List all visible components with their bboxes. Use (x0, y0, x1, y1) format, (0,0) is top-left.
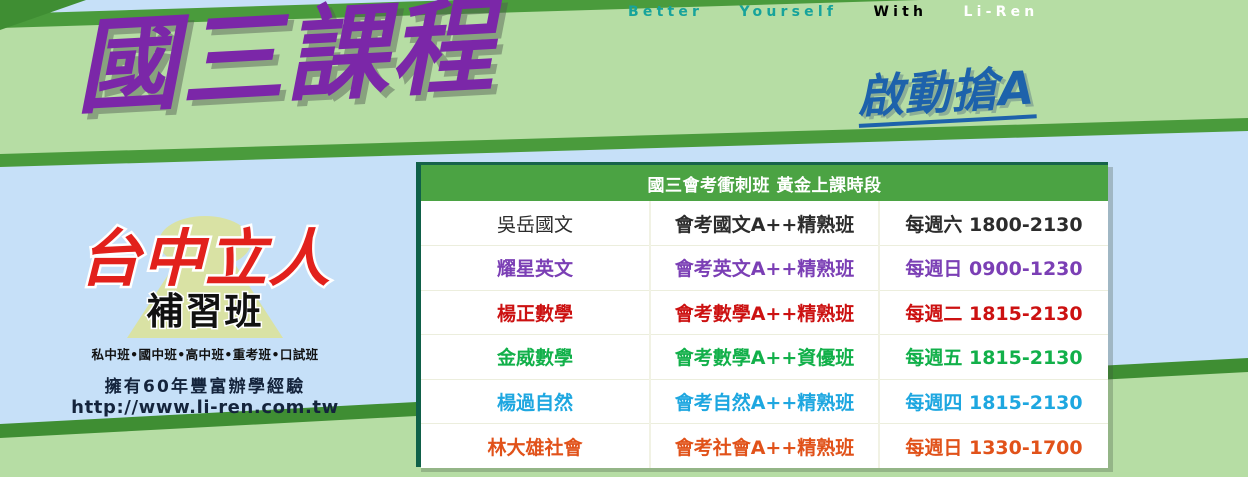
tagline: Better Yourself With Li-Ren (628, 1, 1248, 23)
logo-experience: 擁有60年豐富辦學經驗 (40, 377, 370, 397)
brand-logo: 台中立人 補習班 私中班•國中班•高中班•重考班•口試班 擁有60年豐富辦學經驗… (40, 216, 370, 419)
logo-brand-line1: 台中立人 (79, 222, 331, 295)
table-cell-course: 會考數學A++資優班 (650, 335, 879, 380)
table-cell-schedule: 每週四 1815-2130 (879, 379, 1108, 424)
table-cell-course: 會考自然A++精熟班 (650, 379, 879, 424)
page-title-text: 國三課程 (72, 0, 497, 125)
tagline-part-2: Yourself (739, 4, 837, 20)
table-header-title: 國三會考衝刺班 黃金上課時段 (421, 165, 1108, 201)
logo-class-tags: 私中班•國中班•高中班•重考班•口試班 (40, 344, 370, 363)
table-cell-schedule: 每週二 1815-2130 (879, 290, 1108, 335)
logo-brand-line2: 補習班 (147, 290, 264, 333)
table-cell-schedule: 每週六 1800-2130 (879, 201, 1108, 246)
table-row: 耀星英文會考英文A++精熟班每週日 0900-1230 (421, 246, 1108, 291)
table-body: 吳岳國文會考國文A++精熟班每週六 1800-2130耀星英文會考英文A++精熟… (421, 201, 1108, 468)
table-cell-course: 會考社會A++精熟班 (650, 424, 879, 469)
tagline-part-4: Li-Ren (963, 4, 1038, 20)
table-cell-teacher: 楊過自然 (421, 379, 650, 424)
poster-canvas: Better Yourself With Li-Ren 國三課程 啟動搶A 台中… (0, 0, 1248, 477)
table-cell-teacher: 金威數學 (421, 335, 650, 380)
table-cell-course: 會考國文A++精熟班 (650, 201, 879, 246)
brand-logo-graphic: 台中立人 補習班 (40, 216, 370, 346)
table-cell-schedule: 每週日 1330-1700 (879, 424, 1108, 469)
table-cell-teacher: 吳岳國文 (421, 201, 650, 246)
table-row: 楊正數學會考數學A++精熟班每週二 1815-2130 (421, 290, 1108, 335)
table-cell-teacher: 林大雄社會 (421, 424, 650, 469)
tagline-part-1: Better (628, 4, 703, 20)
table-cell-schedule: 每週日 0900-1230 (879, 246, 1108, 291)
logo-svg: 台中立人 補習班 (40, 216, 370, 346)
page-subtitle-text: 啟動搶A (856, 62, 1036, 127)
table-cell-teacher: 楊正數學 (421, 290, 650, 335)
table-row: 楊過自然會考自然A++精熟班每週四 1815-2130 (421, 379, 1108, 424)
table-cell-course: 會考數學A++精熟班 (650, 290, 879, 335)
logo-website-url: http://www.li-ren.com.tw (40, 397, 370, 419)
table-row: 林大雄社會會考社會A++精熟班每週日 1330-1700 (421, 424, 1108, 469)
table-row: 金威數學會考數學A++資優班每週五 1815-2130 (421, 335, 1108, 380)
table-cell-schedule: 每週五 1815-2130 (879, 335, 1108, 380)
table-row: 吳岳國文會考國文A++精熟班每週六 1800-2130 (421, 201, 1108, 246)
table-header-row: 國三會考衝刺班 黃金上課時段 (421, 165, 1108, 201)
page-subtitle: 啟動搶A (856, 62, 1036, 127)
page-title: 國三課程 (72, 0, 497, 125)
schedule-table: 國三會考衝刺班 黃金上課時段 吳岳國文會考國文A++精熟班每週六 1800-21… (416, 162, 1108, 467)
table-cell-course: 會考英文A++精熟班 (650, 246, 879, 291)
table-cell-teacher: 耀星英文 (421, 246, 650, 291)
tagline-part-3: With (873, 4, 927, 20)
